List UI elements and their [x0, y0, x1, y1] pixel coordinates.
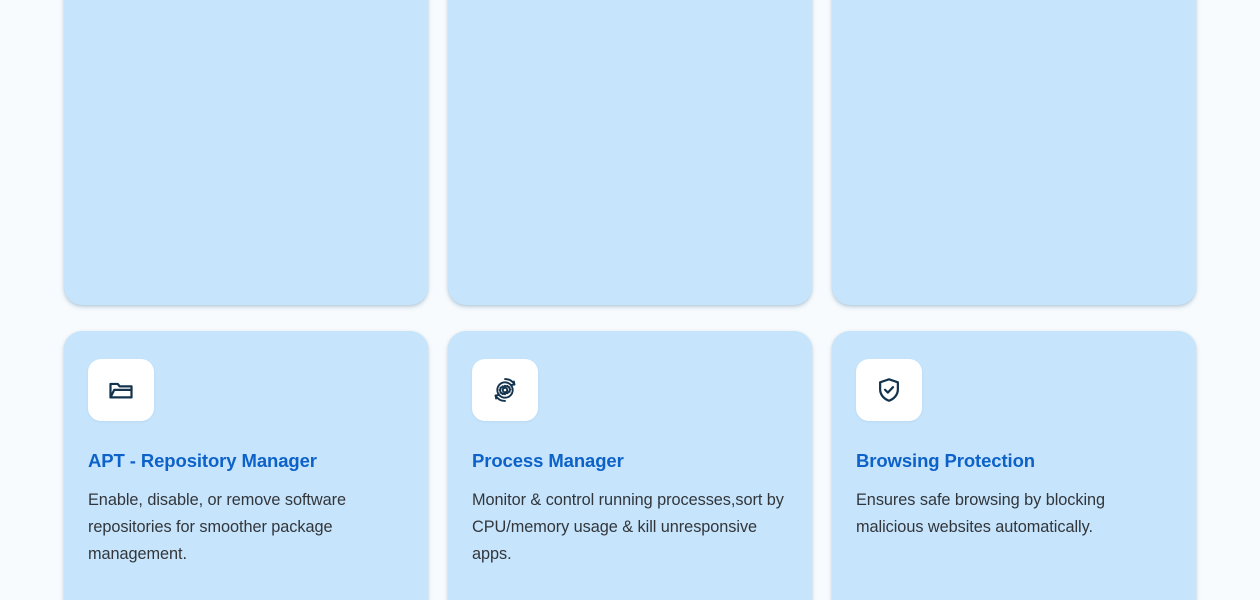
folder-icon [88, 359, 154, 421]
feature-card-browsing-protection[interactable]: Browsing Protection Ensures safe browsin… [832, 331, 1196, 600]
shield-check-icon [856, 359, 922, 421]
feature-card-title: Browsing Protection [856, 449, 1172, 473]
feature-card-startup-manager[interactable]: launch at boot to speed up system startu… [832, 0, 1196, 305]
feature-card-disk-cleaner[interactable]: free up space and improve performance. [448, 0, 812, 305]
gear-refresh-icon [472, 359, 538, 421]
feature-card-process-manager[interactable]: Process Manager Monitor & control runnin… [448, 331, 812, 600]
feature-card-description: Ensures safe browsing by blocking malici… [856, 487, 1172, 541]
feature-card-description: Monitor & control running processes,sort… [472, 487, 788, 568]
feature-card-title: Process Manager [472, 449, 788, 473]
feature-card-title: APT - Repository Manager [88, 449, 404, 473]
feature-card-description: Enable, disable, or remove software repo… [88, 487, 404, 568]
feature-card-apt-repository-manager[interactable]: APT - Repository Manager Enable, disable… [64, 331, 428, 600]
feature-card-grid: unwanted applications with a single clic… [64, 0, 1196, 600]
feature-card-uninstaller[interactable]: unwanted applications with a single clic… [64, 0, 428, 305]
